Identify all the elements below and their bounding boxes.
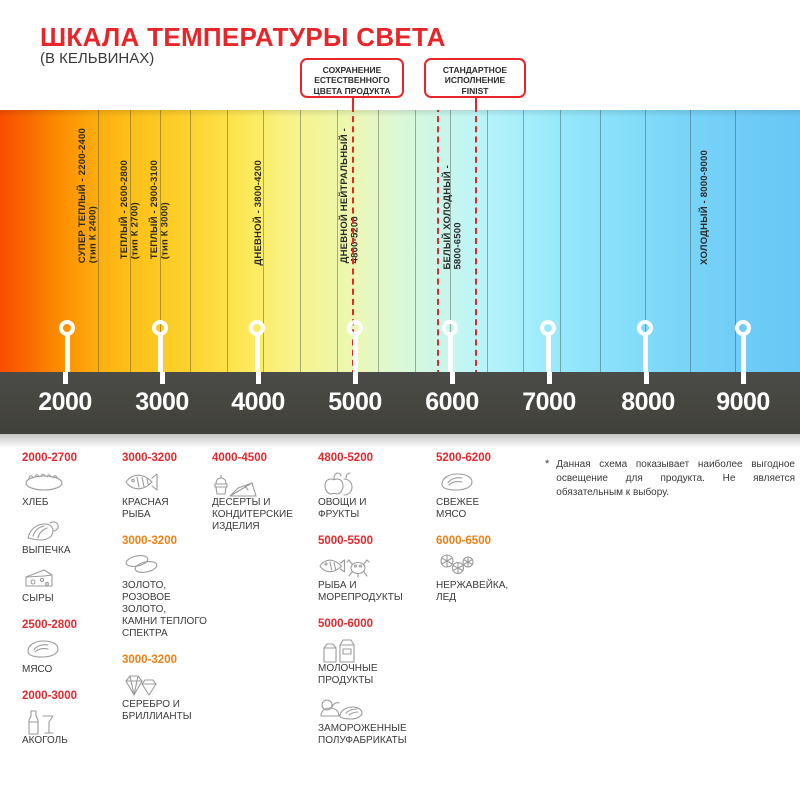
band-label-1: ТЕПЛЫЙ - 2600-2800 (тип К 2700): [120, 160, 141, 259]
legend-range-label: 3000-3200: [122, 452, 212, 464]
scale-tick-stub-2: [256, 372, 261, 384]
legend-item: МОЛОЧНЫЕ ПРОДУКТЫ: [318, 636, 426, 687]
scale-tick-stub-5: [547, 372, 552, 384]
band-label-2: ТЕПЛЫЙ - 2900-3100 (тип К 3000): [150, 160, 171, 259]
legend-item-label: НЕРЖАВЕЙКА, ЛЕД: [436, 580, 536, 604]
legend-range-label: 4800-5200: [318, 452, 426, 464]
scale-number-6: 8000: [621, 388, 675, 417]
fish-icon: [122, 470, 212, 496]
pin-head: [735, 320, 751, 336]
legend-range-label: 5200-6200: [436, 452, 536, 464]
legend-column-1: 3000-3200КРАСНАЯ РЫБА3000-3200ЗОЛОТО, РО…: [122, 452, 212, 737]
legend-group: 6000-6500НЕРЖАВЕЙКА, ЛЕД: [436, 535, 536, 604]
legend-item-label: ЗАМОРОЖЕННЫЕ ПОЛУФАБРИКАТЫ: [318, 723, 426, 747]
legend-group: 3000-3200ЗОЛОТО, РОЗОВОЕ ЗОЛОТО, КАМНИ Т…: [122, 535, 212, 640]
scale-number-7: 9000: [716, 388, 770, 417]
rings-icon: [122, 553, 212, 579]
legend-item-label: СВЕЖЕЕ МЯСО: [436, 497, 536, 521]
legend-item-label: АКОГОЛЬ: [22, 735, 114, 747]
bottle-glass-icon: [22, 708, 114, 734]
temperature-gradient-band: СУПЕР ТЕПЛЫЙ - 2200-2400 (тип К 2400)ТЕП…: [0, 110, 800, 372]
scale-tick-stub-7: [741, 372, 746, 384]
pin-head: [637, 320, 653, 336]
scale-tick-stub-1: [160, 372, 165, 384]
legend-group: 5000-5500РЫБА И МОРЕПРОДУКТЫ: [318, 535, 426, 604]
legend-item: ОВОЩИ И ФРУКТЫ: [318, 470, 426, 521]
pin-stalk: [643, 333, 648, 373]
diamond-icon: [122, 672, 212, 698]
milk-icon: [318, 636, 426, 662]
band-divider-7: [337, 110, 338, 372]
band-divider-3: [190, 110, 191, 372]
scale-number-4: 6000: [425, 388, 479, 417]
scale-tick-stub-3: [353, 372, 358, 384]
callout-stem-1: [475, 98, 477, 112]
band-divider-4: [227, 110, 228, 372]
legend-item: АКОГОЛЬ: [22, 708, 114, 747]
legend-item: СЫРЫ: [22, 566, 114, 605]
pin-stalk: [546, 333, 551, 373]
legend-column-3: 4800-5200ОВОЩИ И ФРУКТЫ5000-5500РЫБА И М…: [318, 452, 426, 761]
band-label-0: СУПЕР ТЕПЛЫЙ - 2200-2400 (тип К 2400): [78, 128, 99, 263]
legend-range-label: 5000-5500: [318, 535, 426, 547]
scale-number-2: 4000: [231, 388, 285, 417]
infographic-page: ШКАЛА ТЕМПЕРАТУРЫ СВЕТА (В КЕЛЬВИНАХ) СО…: [0, 0, 800, 800]
legend-group: 3000-3200СЕРЕБРО И БРИЛЛИАНТЫ: [122, 654, 212, 723]
legend-group: 3000-3200КРАСНАЯ РЫБА: [122, 452, 212, 521]
band-divider-9: [415, 110, 416, 372]
band-divider-12: [523, 110, 524, 372]
page-subtitle: (В КЕЛЬВИНАХ): [40, 50, 154, 67]
steak-icon: [436, 470, 536, 496]
pin-head: [59, 320, 75, 336]
pin-head: [249, 320, 265, 336]
kelvin-scale-bar: 20003000400050006000700080009000: [0, 372, 800, 434]
legend-item: ЗАМОРОЖЕННЫЕ ПОЛУФАБРИКАТЫ: [318, 696, 426, 747]
legend-range-label: 2500-2800: [22, 619, 114, 631]
scale-number-3: 5000: [328, 388, 382, 417]
fish-crab-icon: [318, 553, 426, 579]
legend-item: СВЕЖЕЕ МЯСО: [436, 470, 536, 521]
legend-item-label: СЫРЫ: [22, 593, 114, 605]
legend-column-0: 2000-2700ХЛЕБВЫПЕЧКАСЫРЫ2500-2800МЯСО200…: [22, 452, 114, 761]
band-divider-14: [600, 110, 601, 372]
legend-item: МЯСО: [22, 637, 114, 676]
band-top-shadow: [0, 110, 800, 117]
legend-range-label: 2000-3000: [22, 690, 114, 702]
pin-head: [442, 320, 458, 336]
legend-item-label: СЕРЕБРО И БРИЛЛИАНТЫ: [122, 699, 212, 723]
pin-stalk: [448, 333, 453, 373]
legend-range-label: 2000-2700: [22, 452, 114, 464]
pin-stalk: [353, 333, 358, 373]
scale-bar-shadow: [0, 434, 800, 448]
product-legend: 2000-2700ХЛЕБВЫПЕЧКАСЫРЫ2500-2800МЯСО200…: [0, 452, 800, 800]
legend-group: 2000-3000АКОГОЛЬ: [22, 690, 114, 747]
page-title: ШКАЛА ТЕМПЕРАТУРЫ СВЕТА: [40, 22, 446, 53]
callout-box-1: СТАНДАРТНОЕ ИСПОЛНЕНИЕ FINIST: [424, 58, 526, 98]
legend-item: ХЛЕБ: [22, 470, 114, 509]
legend-item-label: ХЛЕБ: [22, 497, 114, 509]
legend-item: СЕРЕБРО И БРИЛЛИАНТЫ: [122, 672, 212, 723]
band-label-5: БЕЛЫЙ ХОЛОДНЫЙ - 5800-6500: [443, 165, 464, 270]
legend-column-4: 5200-6200СВЕЖЕЕ МЯСО6000-6500НЕРЖАВЕЙКА,…: [436, 452, 536, 618]
band-dashed-line-2: [475, 110, 477, 372]
band-label-6: ХОЛОДНЫЙ - 8000-9000: [700, 150, 711, 265]
legend-item-label: КРАСНАЯ РЫБА: [122, 497, 212, 521]
pin-head: [152, 320, 168, 336]
fruit-icon: [318, 470, 426, 496]
callout-box-0: СОХРАНЕНИЕ ЕСТЕСТВЕННОГО ЦВЕТА ПРОДУКТА: [300, 58, 404, 98]
band-divider-8: [378, 110, 379, 372]
band-divider-6: [300, 110, 301, 372]
pin-stalk: [255, 333, 260, 373]
frozen-icon: [318, 696, 426, 722]
scale-number-0: 2000: [38, 388, 92, 417]
legend-group: 2500-2800МЯСО: [22, 619, 114, 676]
band-dashed-line-1: [437, 110, 439, 372]
legend-group: 4800-5200ОВОЩИ И ФРУКТЫ: [318, 452, 426, 521]
legend-range-label: 4000-4500: [212, 452, 312, 464]
legend-item-label: МОЛОЧНЫЕ ПРОДУКТЫ: [318, 663, 426, 687]
legend-item-label: МЯСО: [22, 664, 114, 676]
legend-item-label: ЗОЛОТО, РОЗОВОЕ ЗОЛОТО, КАМНИ ТЕПЛОГО СП…: [122, 580, 212, 640]
pin-head: [347, 320, 363, 336]
legend-group: 2000-2700ХЛЕБВЫПЕЧКАСЫРЫ: [22, 452, 114, 605]
scale-number-1: 3000: [135, 388, 189, 417]
legend-range-label: 3000-3200: [122, 654, 212, 666]
footnote: * Данная схема показывает наиболее выгод…: [545, 458, 795, 501]
legend-item-label: ВЫПЕЧКА: [22, 545, 114, 557]
ice-icon: [436, 553, 536, 579]
callout-stem-0: [352, 98, 354, 112]
scale-tick-stub-4: [450, 372, 455, 384]
croissant-icon: [22, 518, 114, 544]
footnote-star: *: [545, 458, 549, 501]
scale-tick-stub-0: [63, 372, 68, 384]
scale-tick-stub-6: [644, 372, 649, 384]
cheese-icon: [22, 566, 114, 592]
legend-group: 5000-6000МОЛОЧНЫЕ ПРОДУКТЫЗАМОРОЖЕННЫЕ П…: [318, 618, 426, 747]
legend-range-label: 3000-3200: [122, 535, 212, 547]
legend-item: КРАСНАЯ РЫБА: [122, 470, 212, 521]
footnote-text: Данная схема показывает наиболее выгодно…: [556, 458, 795, 501]
legend-item: ЗОЛОТО, РОЗОВОЕ ЗОЛОТО, КАМНИ ТЕПЛОГО СП…: [122, 553, 212, 640]
pin-stalk: [158, 333, 163, 373]
band-label-4: ДНЕВНОЙ НЕЙТРАЛЬНЫЙ - 4800-5200: [340, 128, 361, 263]
legend-range-label: 5000-6000: [318, 618, 426, 630]
legend-group: 5200-6200СВЕЖЕЕ МЯСО: [436, 452, 536, 521]
band-divider-13: [560, 110, 561, 372]
pin-head: [540, 320, 556, 336]
legend-group: 4000-4500ДЕСЕРТЫ И КОНДИТЕРСКИЕ ИЗДЕЛИЯ: [212, 452, 312, 533]
legend-item-label: ДЕСЕРТЫ И КОНДИТЕРСКИЕ ИЗДЕЛИЯ: [212, 497, 312, 533]
legend-item-label: РЫБА И МОРЕПРОДУКТЫ: [318, 580, 426, 604]
legend-item-label: ОВОЩИ И ФРУКТЫ: [318, 497, 426, 521]
steak-icon: [22, 637, 114, 663]
legend-item: НЕРЖАВЕЙКА, ЛЕД: [436, 553, 536, 604]
pin-stalk: [741, 333, 746, 373]
scale-number-5: 7000: [522, 388, 576, 417]
legend-column-2: 4000-4500ДЕСЕРТЫ И КОНДИТЕРСКИЕ ИЗДЕЛИЯ: [212, 452, 312, 547]
legend-item: РЫБА И МОРЕПРОДУКТЫ: [318, 553, 426, 604]
band-divider-11: [487, 110, 488, 372]
cake-icon: [212, 470, 312, 496]
legend-item: ДЕСЕРТЫ И КОНДИТЕРСКИЕ ИЗДЕЛИЯ: [212, 470, 312, 533]
band-label-3: ДНЕВНОЙ - 3800-4200: [254, 160, 265, 266]
bread-icon: [22, 470, 114, 496]
legend-range-label: 6000-6500: [436, 535, 536, 547]
legend-item: ВЫПЕЧКА: [22, 518, 114, 557]
pin-stalk: [65, 333, 70, 373]
band-divider-16: [690, 110, 691, 372]
